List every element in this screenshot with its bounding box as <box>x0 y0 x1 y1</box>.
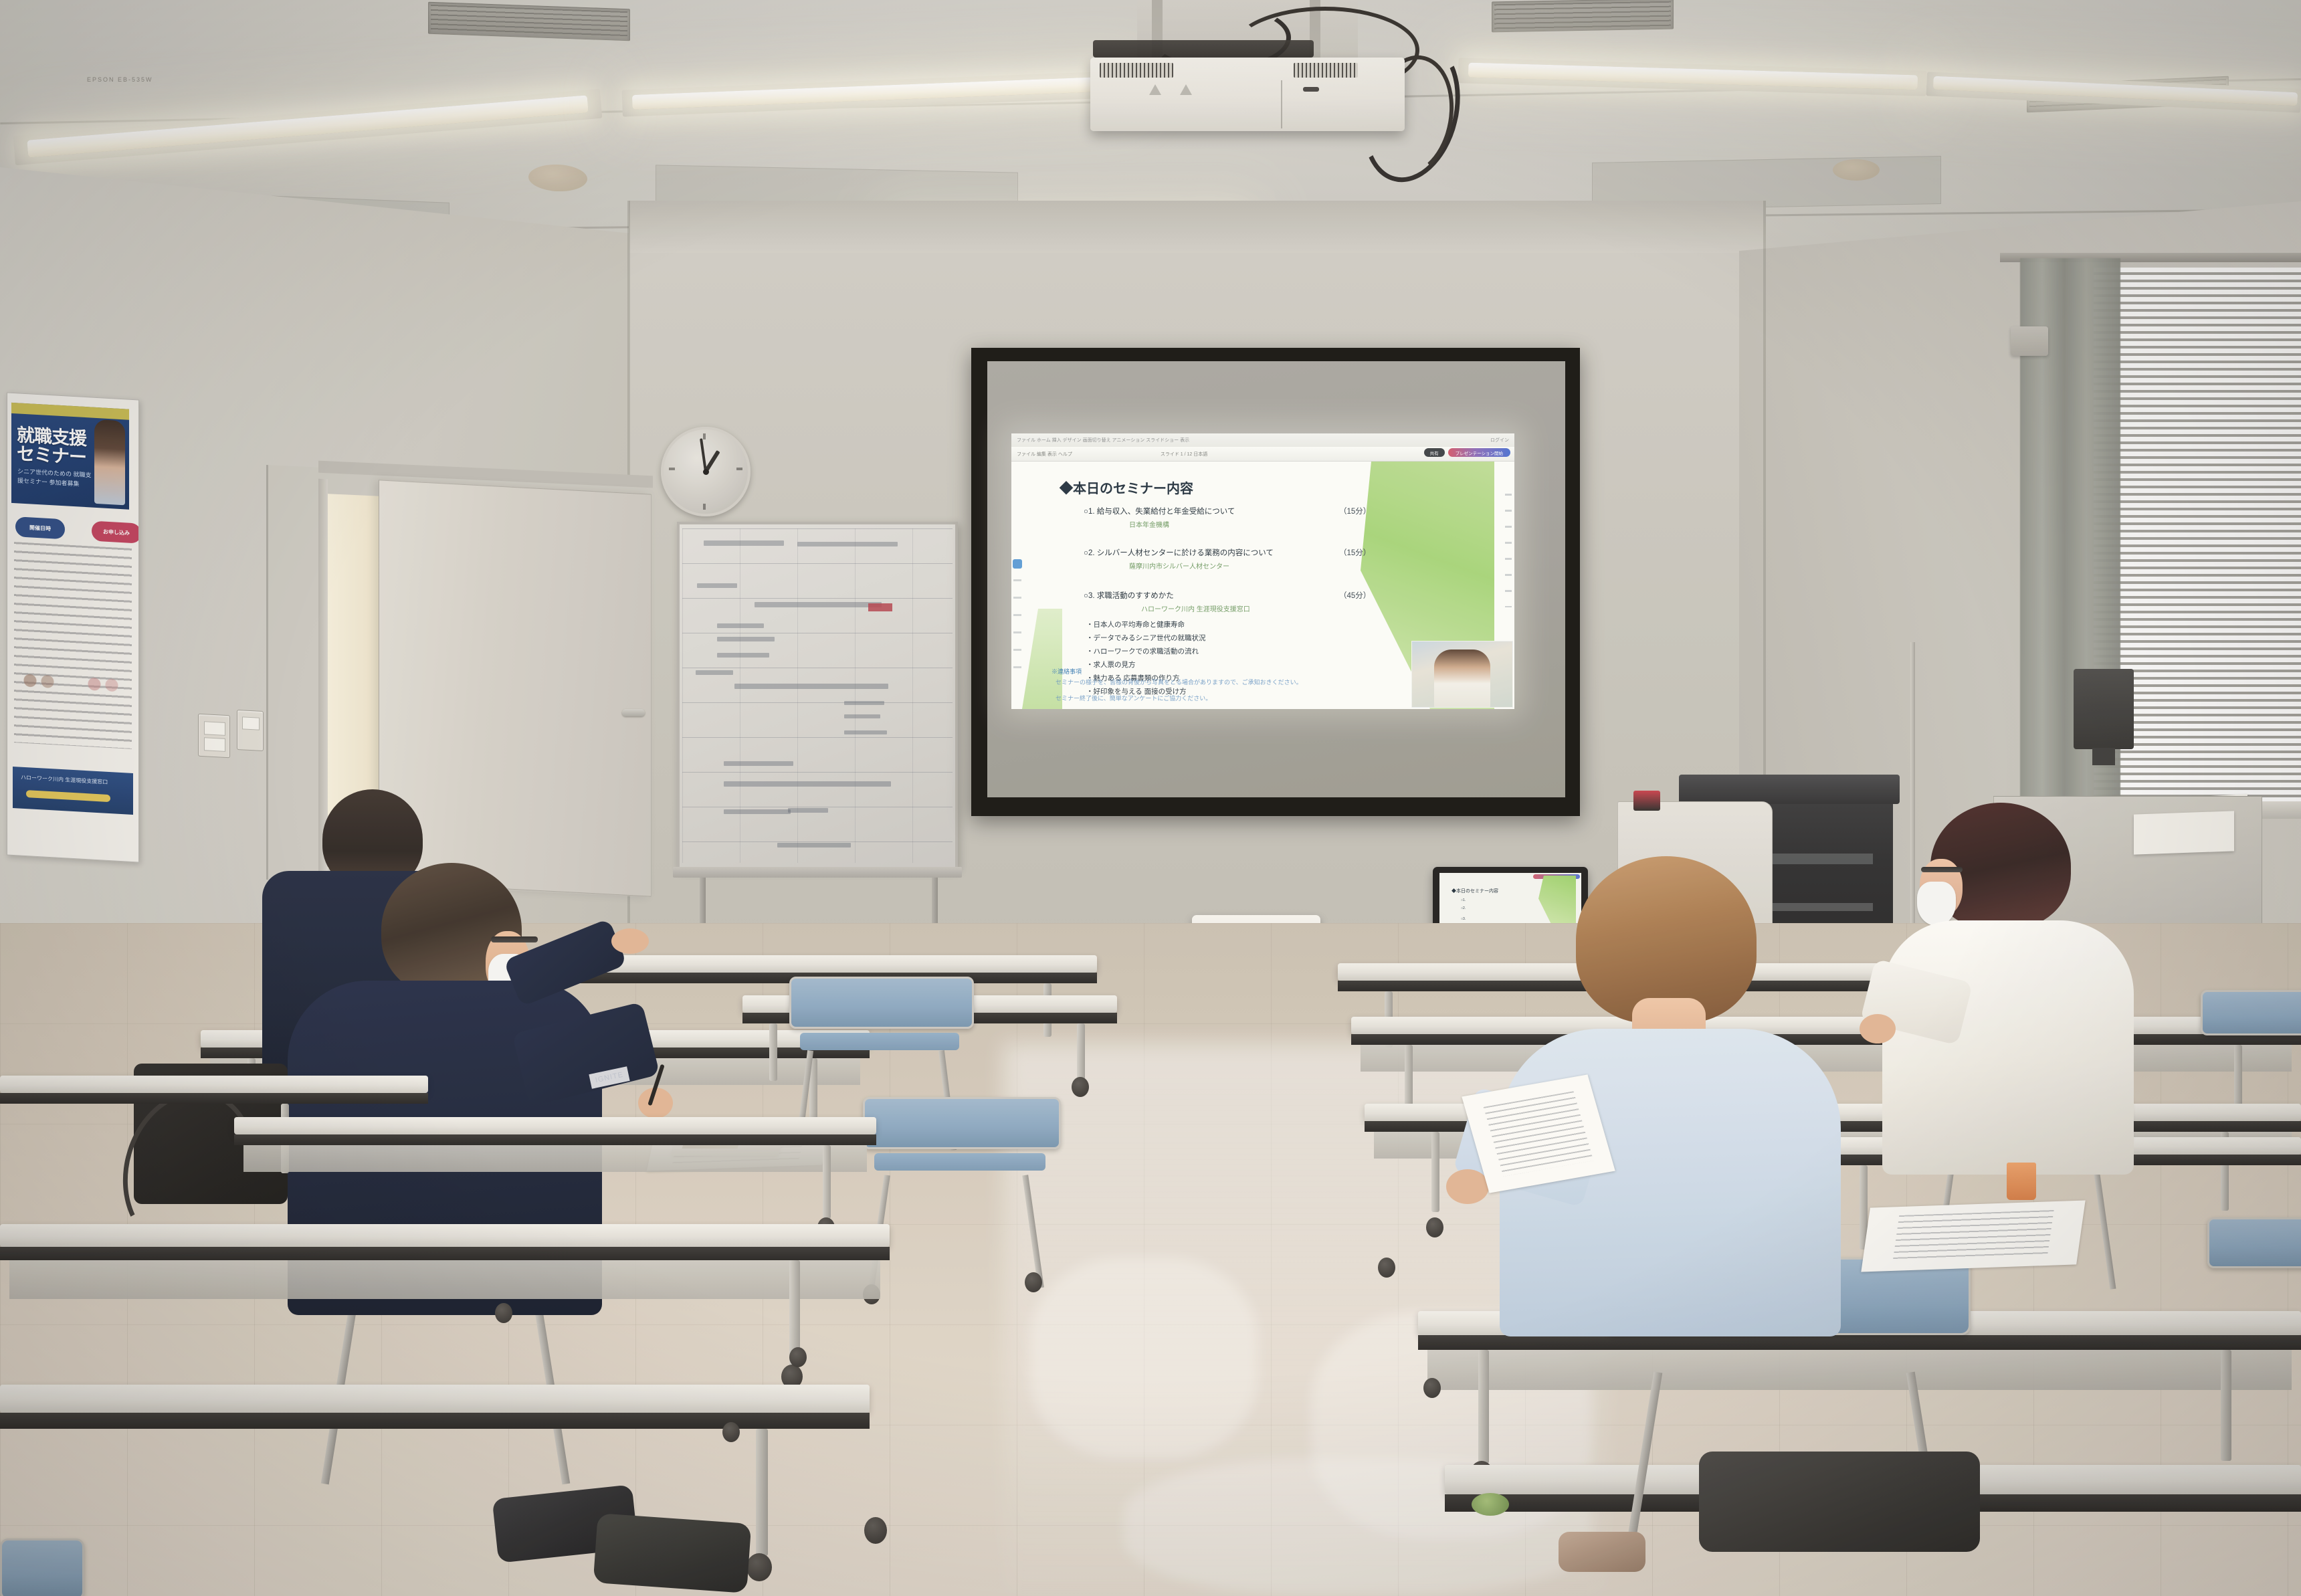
chair-foreground-corner[interactable] <box>0 1538 80 1596</box>
slide-note: セミナー終了後に、簡単なアンケートにご協力ください。 <box>1056 694 1211 702</box>
bag-under-desk <box>1699 1452 1980 1552</box>
floor-reflection <box>1030 1258 1258 1458</box>
slide-item-2-sub: 薩摩川内市シルバー人材センター <box>1129 561 1229 571</box>
wall-speaker <box>2011 326 2048 356</box>
poster-footer: ハローワーク川内 生涯現役支援窓口 <box>13 767 133 815</box>
object-on-floor <box>1472 1493 1509 1516</box>
smoke-detector-icon <box>1833 159 1880 181</box>
glasses-icon <box>1921 867 1963 872</box>
desk-caster <box>495 1303 512 1323</box>
poster-header: 就職支援セミナー シニア世代のための 就職支援セミナー 参加者募集 <box>11 403 129 510</box>
drink-cup <box>2007 1163 2036 1200</box>
wall-soffit <box>629 201 1766 253</box>
hand <box>611 928 649 954</box>
poster-chip-date: 開催日時 <box>15 516 65 539</box>
warning-triangle-icon <box>1180 84 1192 95</box>
poster-body-text <box>14 542 132 749</box>
slide-notes-heading: ※連絡事項 <box>1052 667 1082 676</box>
slide-title: ◆本日のセミナー内容 <box>1060 478 1193 497</box>
hand <box>1860 1014 1896 1043</box>
pen-holder <box>1633 791 1660 811</box>
chair-empty-right-2[interactable] <box>2201 990 2301 1070</box>
desk-caster <box>722 1422 740 1442</box>
wall-clock <box>661 427 751 516</box>
slide-item-2: ○2. シルバー人材センターに於ける業務の内容について （15分） <box>1084 547 1274 558</box>
slide-item-1-sub: 日本年金機構 <box>1129 519 1169 529</box>
face-mask <box>1917 882 1956 926</box>
handout-on-desk <box>1861 1200 2085 1272</box>
shoe <box>593 1513 752 1593</box>
clock-minute-hand <box>700 438 707 472</box>
desk-caster <box>864 1517 887 1544</box>
desk-caster <box>1423 1378 1441 1398</box>
slide-video-pip <box>1411 641 1513 708</box>
desk-front-left-row <box>234 1117 876 1211</box>
start-presentation-button[interactable]: プレゼンテーション開始 <box>1448 448 1510 457</box>
ceiling-projector <box>1090 58 1405 131</box>
hand <box>1446 1169 1489 1204</box>
desk-caster <box>789 1347 807 1367</box>
whiteboard-pen-tray <box>673 867 962 878</box>
door-handle[interactable] <box>622 709 645 716</box>
slide-app-titlebar: ファイル ホーム 挿入 デザイン 画面切り替え アニメーション スライドショー … <box>1011 433 1514 447</box>
chair-empty-right-3[interactable] <box>2207 1217 2301 1298</box>
slide-toolbar-buttons: 共有 プレゼンテーション開始 <box>1424 448 1510 457</box>
poster-job-seminar: 就職支援セミナー シニア世代のための 就職支援セミナー 参加者募集 開催日時 お… <box>7 392 139 862</box>
desktop-monitor <box>2074 669 2134 749</box>
chair-empty-left-2[interactable] <box>863 1097 1057 1191</box>
poster-subtitle: シニア世代のための 就職支援セミナー 参加者募集 <box>17 467 94 489</box>
slide-bullet: ・ハローワークでの求職活動の流れ <box>1086 646 1199 656</box>
share-button[interactable]: 共有 <box>1424 448 1445 457</box>
document-on-cabinet <box>2134 811 2234 854</box>
slide-thumbnail-rail[interactable] <box>1013 562 1021 676</box>
light-switch-plate[interactable] <box>198 714 230 759</box>
projector-model-label: EPSON EB-535W <box>87 76 153 83</box>
light-switch-plate[interactable] <box>237 710 264 751</box>
slide-item-3-sub: ハローワーク川内 生涯現役支援窓口 <box>1141 603 1250 613</box>
seminar-room-photo: EPSON EB-535W 就職支援セミナー シニア世代のための 就職支援セミナ… <box>0 0 2301 1596</box>
slide-item-1: ○1. 給与収入、失業給付と年金受給について （15分） <box>1084 506 1235 516</box>
copier-lid[interactable] <box>1679 775 1900 804</box>
slide-thumbnail-selected[interactable] <box>1013 559 1022 569</box>
poster-footer-text: ハローワーク川内 生涯現役支援窓口 <box>21 774 108 786</box>
monitor-stand <box>2092 748 2115 765</box>
person-woman-far-right <box>1866 803 2147 1177</box>
pip-presenter <box>1434 650 1490 708</box>
poster-photo <box>94 419 125 506</box>
slide-bullet: ・求人票の見方 <box>1086 660 1136 670</box>
slide-bullet: ・データでみるシニア世代の就職状況 <box>1086 633 1206 643</box>
chair-caster <box>1025 1272 1042 1292</box>
app-menu-text: ファイル ホーム 挿入 デザイン 画面切り替え アニメーション スライドショー … <box>1017 437 1189 443</box>
slide-canvas: ◆本日のセミナー内容 ○1. 給与収入、失業給付と年金受給について （15分） … <box>1011 462 1514 709</box>
warning-triangle-icon <box>1149 84 1161 95</box>
slide-note: セミナーの様子を、皆様の背後から写真をとる場合がありますので、ご承知おきください… <box>1056 678 1302 686</box>
login-label[interactable]: ログイン <box>1490 437 1509 443</box>
ceiling-vent <box>1492 0 1674 32</box>
desk-foreground-left <box>0 1385 870 1518</box>
slide-bullet: ・日本人の平均寿命と健康寿命 <box>1086 619 1185 629</box>
poster-illustrations <box>21 660 128 706</box>
glasses-icon <box>491 936 538 942</box>
poster-title: 就職支援セミナー <box>17 425 97 468</box>
desk-front-left-wide <box>0 1224 890 1344</box>
status-right-text: スライド 1 / 12 日本語 <box>1161 451 1207 458</box>
poster-chip-apply: お申し込み <box>92 521 139 544</box>
chair-empty-left-1[interactable] <box>789 977 970 1064</box>
slide-item-3: ○3. 求職活動のすすめかた （45分） <box>1084 590 1174 601</box>
shoe <box>1559 1532 1645 1572</box>
slide-scrollbar[interactable] <box>1505 494 1512 607</box>
projector-lens <box>1093 40 1314 58</box>
ribbon-menu-text: ファイル 編集 表示 ヘルプ <box>1017 451 1072 458</box>
desk-caster <box>1378 1258 1395 1278</box>
projected-slide: ファイル ホーム 挿入 デザイン 画面切り替え アニメーション スライドショー … <box>1011 433 1514 709</box>
whiteboard-red-marking <box>868 603 892 611</box>
whiteboard <box>677 522 958 870</box>
